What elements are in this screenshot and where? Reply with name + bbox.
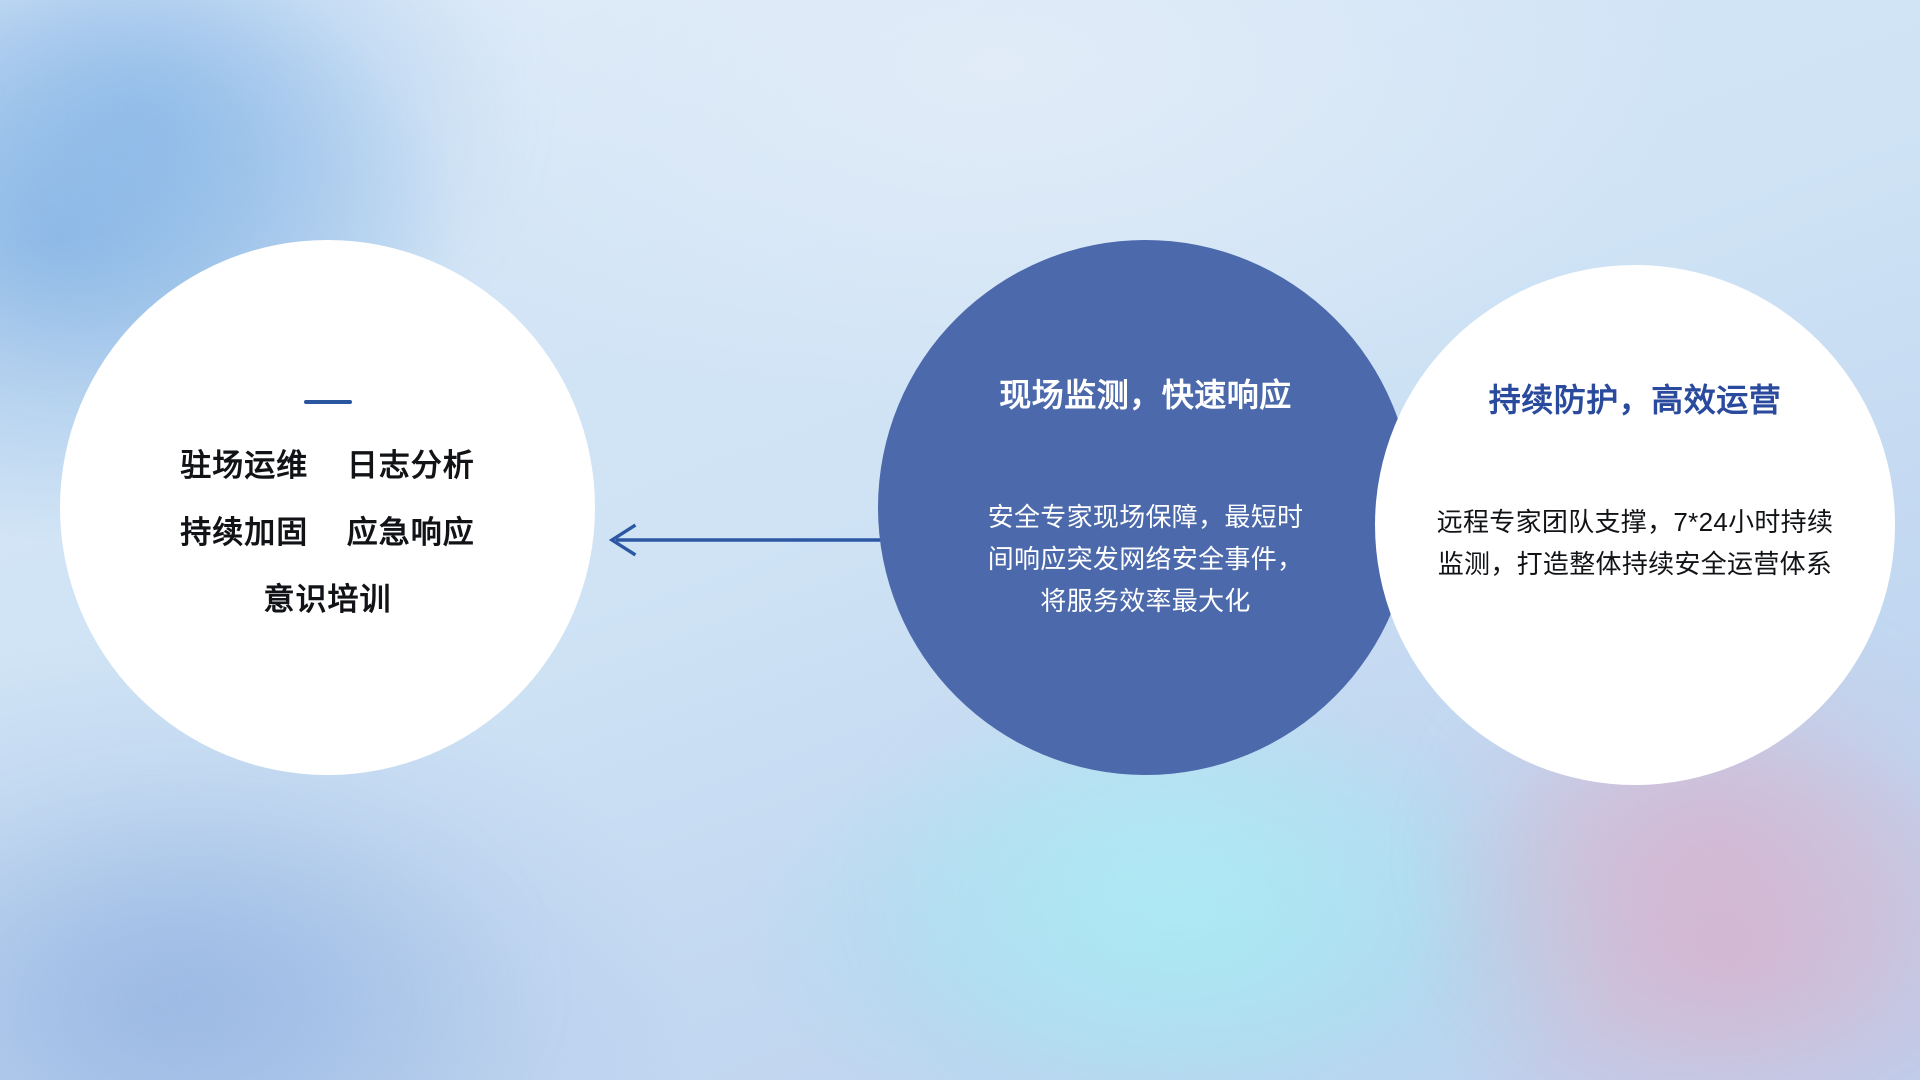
arrow-connector (600, 520, 890, 560)
left-circle-divider (304, 400, 352, 404)
left-circle-line-3: 意识培训 (264, 584, 392, 615)
center-circle-body: 安全专家现场保障，最短时间响应突发网络安全事件，将服务效率最大化 (981, 496, 1311, 622)
right-service-circle: 持续防护，高效运营 远程专家团队支撑，7*24小时持续监测，打造整体持续安全运营… (1375, 265, 1895, 785)
center-circle-title: 现场监测，快速响应 (999, 370, 1292, 416)
right-circle-body: 远程专家团队支撑，7*24小时持续监测，打造整体持续安全运营体系 (1425, 501, 1845, 585)
left-service-circle: 驻场运维 日志分析 持续加固 应急响应 意识培训 (60, 240, 595, 775)
right-circle-title: 持续防护，高效运营 (1489, 375, 1782, 421)
center-service-circle: 现场监测，快速响应 安全专家现场保障，最短时间响应突发网络安全事件，将服务效率最… (878, 240, 1413, 775)
left-circle-line-2: 持续加固 应急响应 (180, 517, 474, 548)
left-arrow-icon (600, 520, 890, 560)
left-circle-line-1: 驻场运维 日志分析 (180, 450, 474, 481)
background-glow-bottom-left (0, 778, 538, 1080)
